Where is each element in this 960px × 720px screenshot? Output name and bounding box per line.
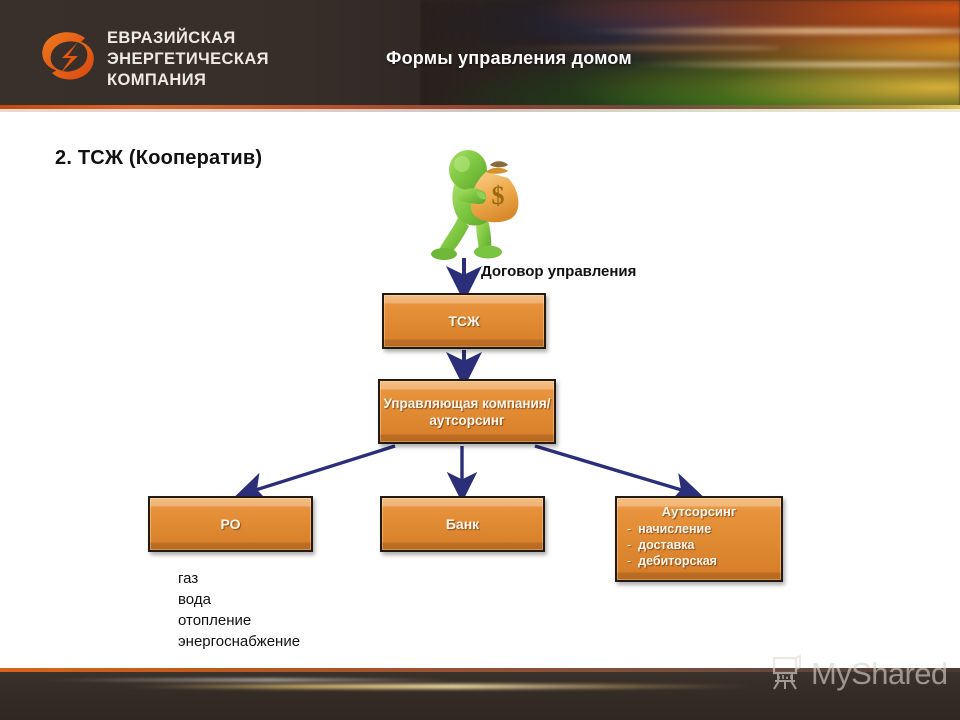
node-tszh[interactable]: ТСЖ <box>382 293 546 349</box>
list-item-label: доставка <box>638 537 694 553</box>
edge-label-contract: Договор управления <box>481 263 636 280</box>
list-bullet: - <box>627 521 631 537</box>
presentation-easel-icon <box>770 654 804 695</box>
services-item: отопление <box>178 610 300 631</box>
watermark: MyShared <box>770 646 960 702</box>
header-streak <box>620 62 960 67</box>
node-bank-label: Банк <box>446 516 479 532</box>
node-management-company[interactable]: Управляющая компания/ аутсорсинг <box>378 379 556 444</box>
list-item: - доставка <box>627 537 775 553</box>
list-item-label: дебиторская <box>638 553 717 569</box>
services-list: газ вода отопление энергоснабжение <box>178 568 300 652</box>
list-bullet: - <box>627 537 631 553</box>
header-accent-line-light <box>0 109 960 112</box>
swirl-lightning-logo-icon <box>36 26 102 88</box>
node-outsourcing[interactable]: Аутсорсинг - начисление - доставка - деб… <box>615 496 783 582</box>
node-bank[interactable]: Банк <box>380 496 545 552</box>
section-heading: 2. ТСЖ (Кооператив) <box>55 147 262 170</box>
list-item-label: начисление <box>638 521 711 537</box>
header-streak <box>570 28 960 34</box>
list-item: - дебиторская <box>627 553 775 569</box>
watermark-text: MyShared <box>811 656 948 692</box>
slide-header: ЕВРАЗИЙСКАЯ ЭНЕРГЕТИЧЕСКАЯ КОМПАНИЯ Форм… <box>0 0 960 112</box>
list-item: - начисление <box>627 521 775 537</box>
services-item: энергоснабжение <box>178 631 300 652</box>
node-tszh-label: ТСЖ <box>448 313 479 329</box>
brand-name: ЕВРАЗИЙСКАЯ ЭНЕРГЕТИЧЕСКАЯ КОМПАНИЯ <box>107 28 269 91</box>
node-outsourcing-title: Аутсорсинг <box>617 503 781 520</box>
node-management-company-label: Управляющая компания/ аутсорсинг <box>380 395 554 429</box>
node-ro[interactable]: РО <box>148 496 313 552</box>
node-outsourcing-list: - начисление - доставка - дебиторская <box>617 521 781 569</box>
page-title: Формы управления домом <box>386 48 632 69</box>
footer-glow <box>120 684 760 689</box>
footer-glow-secondary <box>40 678 460 682</box>
svg-text:$: $ <box>492 181 505 210</box>
green-man-with-money-bag-icon: $ <box>424 142 536 264</box>
list-bullet: - <box>627 553 631 569</box>
slide-root: ЕВРАЗИЙСКАЯ ЭНЕРГЕТИЧЕСКАЯ КОМПАНИЯ Форм… <box>0 0 960 720</box>
node-ro-label: РО <box>220 516 240 532</box>
services-item: газ <box>178 568 300 589</box>
services-item: вода <box>178 589 300 610</box>
